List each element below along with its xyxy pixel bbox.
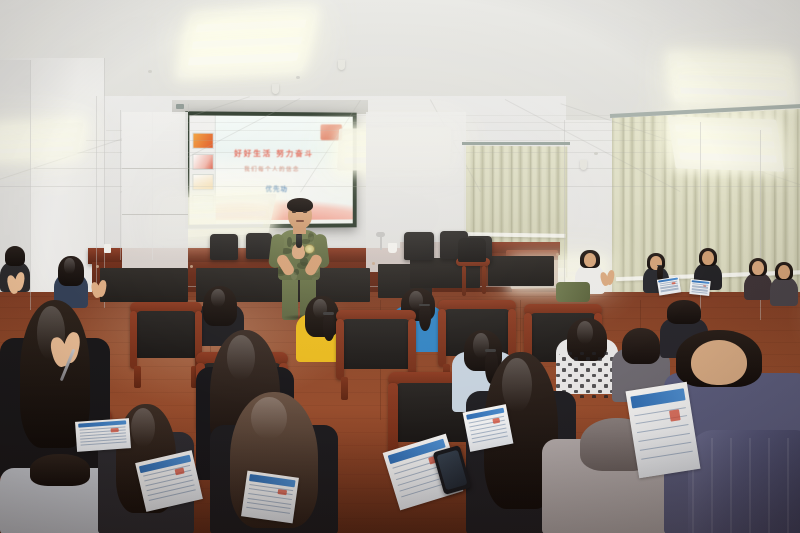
ht-0-8: [604, 352, 608, 355]
ht-3-7: [598, 368, 602, 371]
handout-stamp: [669, 410, 680, 422]
puffer-quilt-5: [787, 438, 789, 533]
ht-2-6: [592, 363, 596, 366]
ht-7-5: [586, 390, 590, 393]
handout-front-centre: [241, 471, 299, 524]
ht-8-8: [604, 395, 608, 398]
camo-blob-22: [287, 237, 292, 247]
handout-line-5: [641, 450, 693, 459]
face: [691, 340, 747, 386]
hand-right: [605, 269, 615, 285]
puffer-quilt-3: [749, 438, 751, 533]
chair-stile-left: [336, 319, 344, 380]
presenter-eye-right: [303, 211, 307, 213]
hair-sheen: [131, 408, 155, 447]
clapping-hands-far-left: [8, 272, 27, 296]
person-back-right-2: [770, 262, 798, 306]
handout-line-5: [148, 489, 196, 501]
ht-4-4: [580, 374, 584, 377]
handout-line-2: [637, 424, 689, 433]
hair-sheen: [251, 397, 287, 440]
ht-1-5: [586, 357, 590, 360]
handout-back-right-1: [657, 276, 681, 295]
ht-7-7: [598, 390, 602, 393]
presenter-mouth: [296, 220, 304, 222]
white-tshirt-camo-pants: [556, 282, 590, 302]
hair-tie: [323, 312, 333, 315]
ht-4-6: [592, 374, 596, 377]
ht-0-6: [592, 352, 596, 355]
handout-line-4: [640, 442, 692, 451]
ht-2-8: [604, 363, 608, 366]
hand-right: [97, 279, 108, 297]
hair: [30, 454, 90, 486]
hair-sheen: [502, 358, 532, 413]
ht-0-4: [580, 352, 584, 355]
clapping-hands-white-tshirt: [601, 270, 615, 289]
handout-stamp: [493, 418, 501, 424]
hand-right: [13, 271, 26, 292]
ht-3-5: [586, 368, 590, 371]
handout-line-3: [638, 433, 690, 442]
chair-stile-left: [388, 383, 398, 455]
camo-blob-25: [312, 277, 319, 280]
handout-back-right-2: [689, 279, 710, 296]
hair-tie: [419, 304, 429, 307]
ht-5-5: [586, 379, 590, 382]
puffer-quilt-1: [711, 438, 713, 533]
ht-6-4: [580, 384, 584, 387]
hair: [622, 328, 659, 364]
chair-stile-left: [438, 309, 446, 367]
ponytail: [419, 304, 430, 331]
puffer-quilt-2: [730, 438, 732, 533]
ht-5-7: [598, 379, 602, 382]
puffer-quilt-4: [768, 438, 770, 533]
hair-sheen: [64, 258, 74, 274]
handout-mid-right: [463, 404, 514, 452]
hair: [667, 300, 700, 324]
chair-seatback: [342, 319, 409, 369]
chair-seatback: [136, 311, 196, 358]
hair-sheen: [211, 289, 224, 307]
ht-8-6: [592, 395, 596, 398]
conference-room-photo: 好好生活 努力奋斗 我们每个人的信念 优先功: [0, 0, 800, 533]
hair: [5, 246, 26, 266]
ht-6-8: [604, 384, 608, 387]
presenter-eye-left: [292, 211, 296, 213]
handout-left-lap: [75, 418, 131, 452]
handout-stamp: [110, 428, 119, 432]
handout-stamp: [175, 467, 185, 475]
person-far-left-front: [0, 300, 110, 480]
chair-leg-left: [134, 366, 140, 388]
camo-blob-12: [314, 230, 320, 234]
presenter-hair: [287, 198, 313, 212]
audience-chair-left-1: [130, 302, 202, 376]
chair-stile-left: [130, 311, 137, 369]
audience-layer: [0, 0, 800, 533]
ht-8-4: [580, 395, 584, 398]
face: [778, 265, 790, 279]
ht-6-6: [592, 384, 596, 387]
ht-1-7: [598, 357, 602, 360]
ht-4-8: [604, 374, 608, 377]
chair-leg-left: [341, 377, 348, 400]
handout-stamp: [278, 489, 287, 496]
ht-2-4: [580, 363, 584, 366]
puffer-jacket-body: [688, 430, 800, 533]
person-back-right-1: [744, 258, 772, 300]
hair-sheen: [577, 321, 593, 344]
clapping-hands-navy-jacket: [92, 280, 108, 301]
ponytail: [323, 313, 334, 341]
presenter-badge: [304, 244, 315, 254]
torso: [770, 276, 798, 306]
handout-header: [630, 388, 686, 409]
